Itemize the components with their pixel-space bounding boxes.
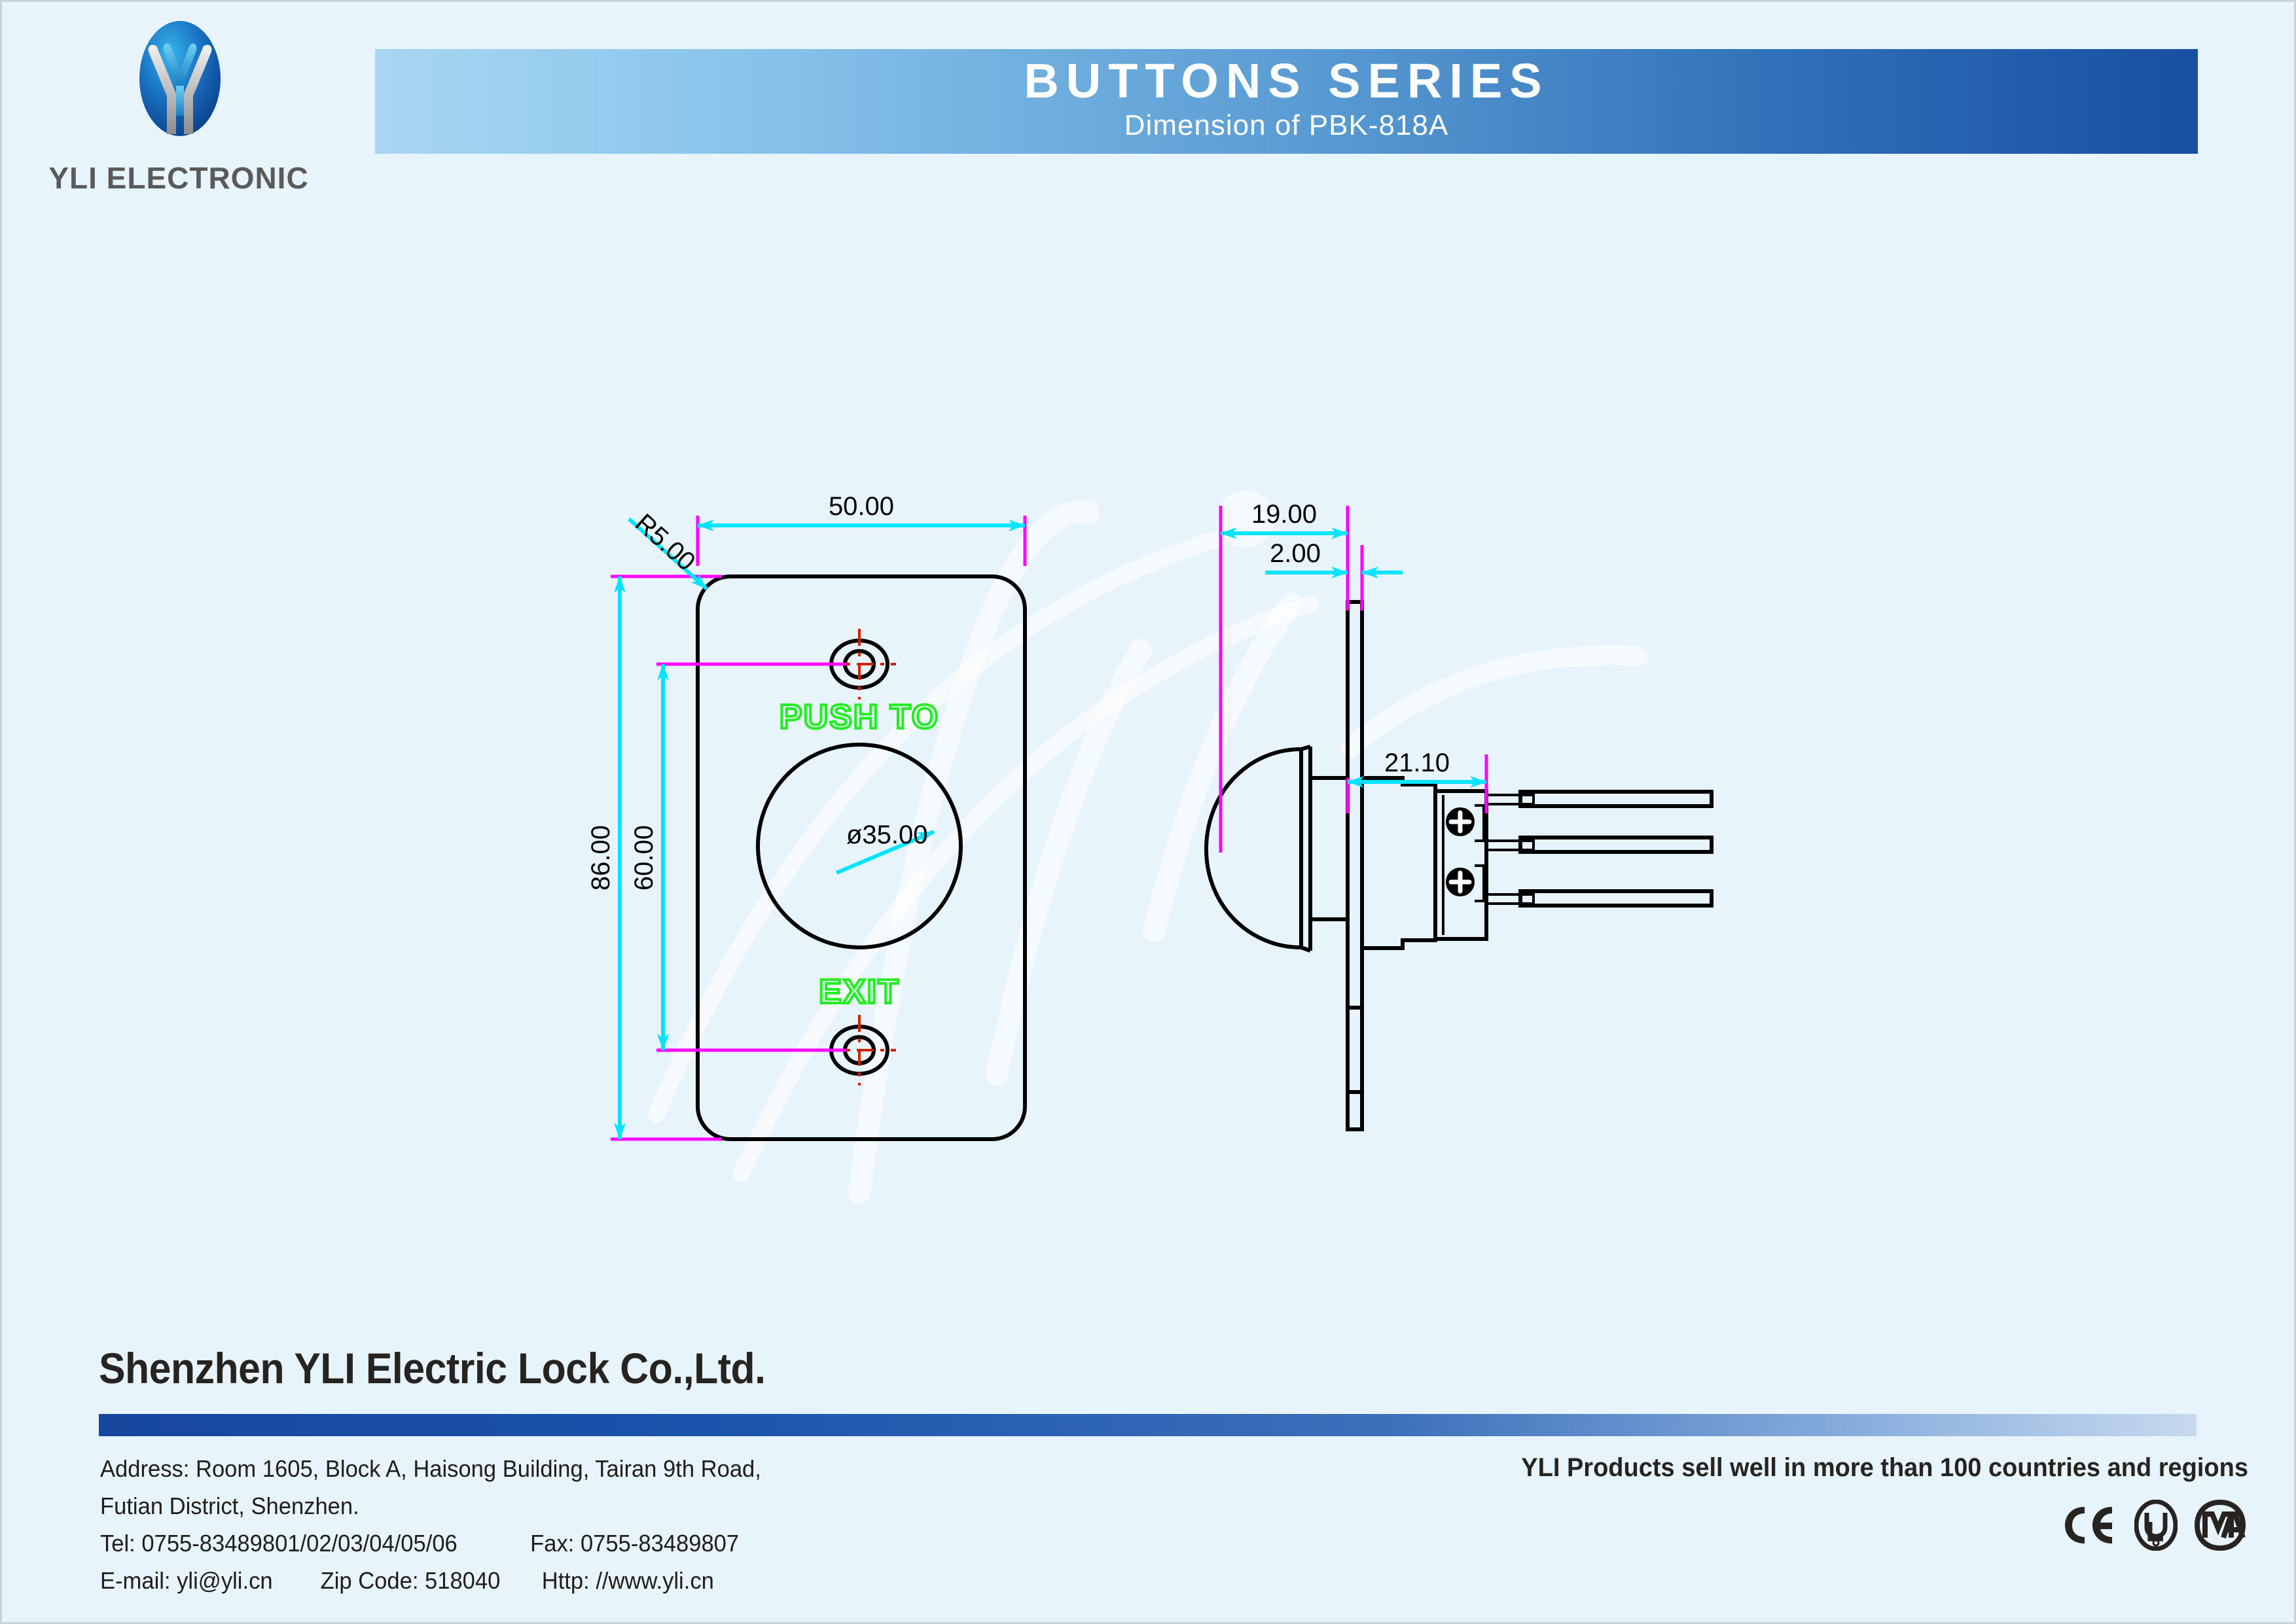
dimension-width-text: 50.00 xyxy=(829,492,894,521)
button-collar xyxy=(1310,778,1348,919)
fax: Fax: 0755-83489807 xyxy=(530,1530,739,1557)
background-watermark xyxy=(578,342,1691,1226)
side-view: 19.00 2.00 21.10 xyxy=(1206,500,1712,1129)
footer-divider xyxy=(99,1414,2197,1436)
tel-fax-row: Tel: 0755-83489801/02/03/04/05/06 Fax: 0… xyxy=(100,1525,1043,1562)
ma-mark-icon xyxy=(2192,1500,2248,1551)
header-banner: BUTTONS SERIES Dimension of PBK-818A xyxy=(375,49,2198,154)
dimension-radius-r5: R5.00 xyxy=(629,508,707,589)
dimension-hole-spacing-60: 60.00 xyxy=(630,664,663,1050)
company-name: Shenzhen YLI Electric Lock Co.,Ltd. xyxy=(99,1343,766,1393)
ce-mark-icon xyxy=(2061,1502,2120,1549)
screw-hole-top xyxy=(823,629,896,699)
label-push-to: PUSH TO xyxy=(780,698,939,736)
page-title: BUTTONS SERIES xyxy=(375,57,2198,105)
dimension-radius-text: R5.00 xyxy=(630,508,701,576)
extension-lines-front xyxy=(611,516,1025,1139)
tagline: YLI Products sell well in more than 100 … xyxy=(1278,1453,2248,1483)
button-dome-outline xyxy=(1206,749,1301,947)
brand-logo: YLI ELECTRONIC xyxy=(2,9,355,192)
terminal-screw-bottom xyxy=(1446,868,1475,896)
dimension-diameter: ø35.00 xyxy=(836,821,934,873)
page-subtitle: Dimension of PBK-818A xyxy=(375,109,2198,142)
faceplate-outline xyxy=(698,576,1025,1139)
dimension-depth-19-text: 19.00 xyxy=(1251,500,1317,529)
footer-right-block: YLI Products sell well in more than 100 … xyxy=(1227,1453,2248,1551)
dimension-body-21: 21.10 xyxy=(1348,749,1486,782)
dimension-width-50: 50.00 xyxy=(698,492,1025,525)
contact-info: Address: Room 1605, Block A, Haisong Bui… xyxy=(100,1451,1043,1600)
zip-code: Zip Code: 518040 xyxy=(321,1567,501,1594)
logo-wordmark: YLI ELECTRONIC xyxy=(2,160,355,196)
mounting-plate xyxy=(1348,602,1362,1008)
website[interactable]: Http: //www.yli.cn xyxy=(542,1567,714,1594)
front-view: PUSH TO ø35.00 EXIT xyxy=(586,492,1025,1139)
address-line-1: Address: Room 1605, Block A, Haisong Bui… xyxy=(100,1451,1043,1488)
dimension-body-21-text: 21.10 xyxy=(1384,749,1450,777)
terminal-screw-top xyxy=(1446,807,1475,836)
terminal-block xyxy=(1435,791,1486,939)
dimension-hole-spacing-text: 60.00 xyxy=(630,825,658,891)
extension-lines-side xyxy=(1221,506,1486,853)
dimension-diameter-text: ø35.00 xyxy=(846,821,928,849)
dimension-thickness-2-text: 2.00 xyxy=(1270,539,1321,568)
yli-logo-icon xyxy=(128,18,232,158)
telephone: Tel: 0755-83489801/02/03/04/05/06 xyxy=(100,1530,457,1557)
button-bore-circle xyxy=(758,745,961,947)
dimension-height-text: 86.00 xyxy=(586,825,615,891)
address-line-2: Futian District, Shenzhen. xyxy=(100,1488,1043,1525)
mounting-plate-lower xyxy=(1348,1008,1362,1129)
wire-lead-3 xyxy=(1486,891,1712,906)
dimension-depth-19: 19.00 xyxy=(1221,500,1348,533)
page-canvas: YLI ELECTRONIC BUTTONS SERIES Dimension … xyxy=(0,0,2296,1624)
email-zip-web-row: E-mail: yli@yli.cn Zip Code: 518040 Http… xyxy=(100,1562,1043,1600)
switch-body xyxy=(1362,778,1435,948)
wire-lead-1 xyxy=(1486,792,1712,806)
certification-marks xyxy=(1227,1500,2248,1551)
ul-mark-icon xyxy=(2134,1500,2178,1551)
email[interactable]: E-mail: yli@yli.cn xyxy=(100,1567,273,1594)
button-dome-profile xyxy=(1218,656,1300,749)
screw-hole-bottom xyxy=(823,1015,896,1086)
dimension-height-86: 86.00 xyxy=(586,576,620,1139)
wire-lead-2 xyxy=(1486,838,1712,852)
label-exit: EXIT xyxy=(819,973,900,1011)
dimension-thickness-2: 2.00 xyxy=(1265,539,1403,573)
